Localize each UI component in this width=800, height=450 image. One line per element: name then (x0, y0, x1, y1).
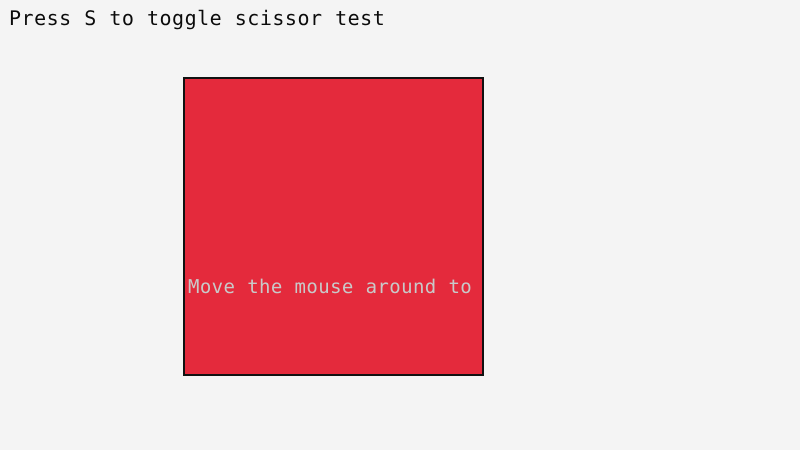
scissor-toggle-hint: Press S to toggle scissor test (9, 6, 385, 30)
scissor-clipped-text: Move the mouse around to r (188, 275, 484, 299)
scissor-test-rectangle[interactable]: Move the mouse around to r (183, 77, 484, 376)
app-canvas: Press S to toggle scissor test Move the … (0, 0, 800, 450)
